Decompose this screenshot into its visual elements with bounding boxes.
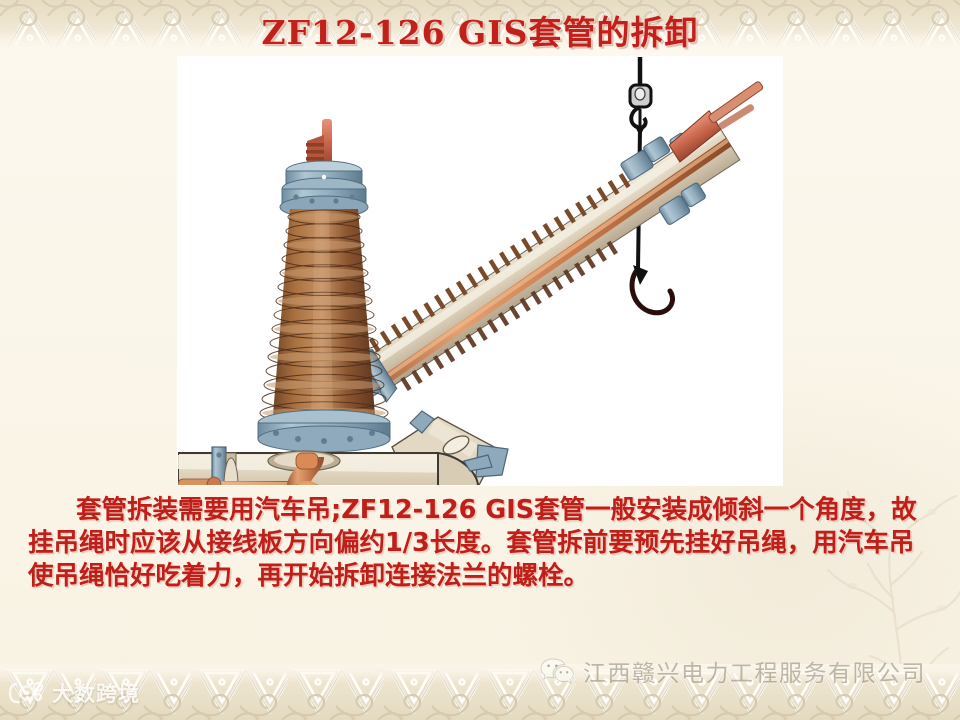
left-watermark-text: 大数跨境 — [52, 678, 140, 708]
body-paragraph: 套管拆装需要用汽车吊;ZF12-126 GIS套管一般安装成倾斜一个角度，故挂吊… — [28, 494, 932, 593]
company-credit-text: 江西赣兴电力工程服务有限公司 — [583, 654, 926, 688]
left-watermark: 大数跨境 — [8, 678, 140, 708]
illustration-svg — [178, 57, 782, 485]
slide-root: ZF12-126 GIS套管的拆卸 — [0, 0, 960, 720]
gis-bushing-removal-illustration — [178, 57, 782, 485]
lower-flange-vertical — [258, 410, 390, 452]
dashu-logo-icon — [8, 680, 46, 706]
wechat-icon — [540, 657, 574, 685]
slide-title: ZF12-126 GIS套管的拆卸 — [0, 6, 960, 54]
company-credit: 江西赣兴电力工程服务有限公司 — [540, 654, 926, 688]
